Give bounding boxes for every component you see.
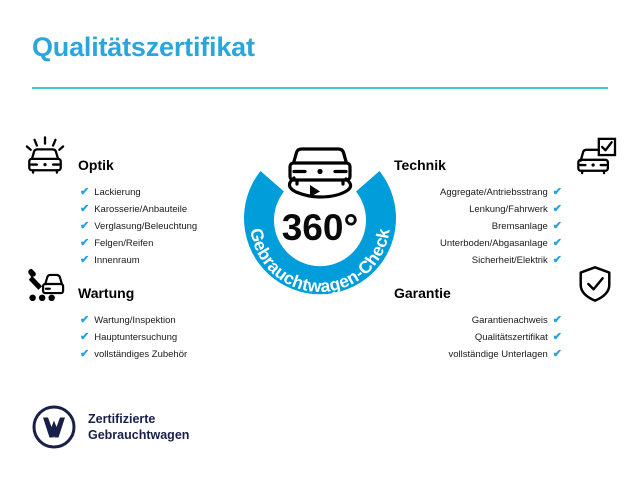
list-item-label: Unterboden/Abgasanlage [440,235,548,252]
section-garantie-title-wrap: Garantie [394,285,562,304]
check-icon: ✔ [80,238,89,249]
shield-check-icon [572,264,618,304]
check-icon: ✔ [80,332,89,343]
list-item: ✔ Lackierung [22,184,246,201]
car-shine-icon [22,136,68,176]
check-icon: ✔ [553,315,562,326]
section-wartung-title-wrap: Wartung [78,285,246,304]
list-item-label: Lackierung [94,184,140,201]
badge-center-label: 360° [282,207,359,248]
check-icon: ✔ [553,221,562,232]
section-wartung: Wartung ✔ Wartung/Inspektion ✔ Hauptunte… [22,258,246,363]
list-item: ✔ Bremsanlage [394,218,562,235]
list-item: ✔ Wartung/Inspektion [22,312,246,329]
section-technik-list: ✔ Aggregate/Antriebsstrang ✔ Lenkung/Fah… [394,184,618,269]
list-item-label: Hauptuntersuchung [94,329,177,346]
list-item: ✔ Lenkung/Fahrwerk [394,201,562,218]
section-wartung-list: ✔ Wartung/Inspektion ✔ Hauptuntersuchung… [22,312,246,363]
list-item-label: Bremsanlage [492,218,548,235]
title-divider [32,87,608,89]
section-optik-title-wrap: Optik [78,157,246,176]
check-icon: ✔ [553,349,562,360]
check-icon: ✔ [80,187,89,198]
list-item: ✔ Unterboden/Abgasanlage [394,235,562,252]
list-item: ✔ Qualitätszertifikat [394,329,562,346]
page-title: Qualitätszertifikat [32,32,255,63]
list-item-label: Verglasung/Beleuchtung [94,218,197,235]
list-item: ✔ Verglasung/Beleuchtung [22,218,246,235]
360-check-badge: Gebrauchtwagen-Check 360° [226,128,414,316]
list-item-label: Wartung/Inspektion [94,312,176,329]
vw-logo [32,405,76,449]
check-icon: ✔ [80,221,89,232]
list-item-label: Aggregate/Antriebsstrang [440,184,548,201]
car-checkbox-icon [572,136,618,176]
list-item: ✔ Garantienachweis [394,312,562,329]
quality-certificate-page: Qualitätszertifikat [0,0,640,480]
check-icon: ✔ [553,332,562,343]
list-item-label: Garantienachweis [472,312,548,329]
list-item-label: Lenkung/Fahrwerk [469,201,548,218]
footer-brand: ZertifizierteGebrauchtwagen [32,405,189,449]
check-icon: ✔ [553,187,562,198]
footer-line1: Zertifizierte [88,412,155,426]
section-technik-title-wrap: Technik [394,157,562,176]
list-item-label: Felgen/Reifen [94,235,153,252]
check-icon: ✔ [553,238,562,249]
list-item: ✔ vollständige Unterlagen [394,346,562,363]
section-technik-header: Technik [394,130,618,176]
car-rotate-icon [289,149,350,197]
section-garantie-header: Garantie [394,258,618,304]
list-item: ✔ vollständiges Zubehör [22,346,246,363]
section-technik: Technik ✔ Aggregate/Antriebsstrang ✔ Len… [394,130,618,269]
check-icon: ✔ [553,204,562,215]
list-item-label: vollständige Unterlagen [448,346,547,363]
section-optik-title: Optik [78,157,114,173]
footer-line2: Gebrauchtwagen [88,428,189,442]
section-garantie-list: ✔ Garantienachweis ✔ Qualitätszertifikat… [394,312,618,363]
list-item: ✔ Aggregate/Antriebsstrang [394,184,562,201]
check-icon: ✔ [80,204,89,215]
section-optik-list: ✔ Lackierung ✔ Karosserie/Anbauteile ✔ V… [22,184,246,269]
section-wartung-header: Wartung [22,258,246,304]
list-item: ✔ Hauptuntersuchung [22,329,246,346]
list-item: ✔ Karosserie/Anbauteile [22,201,246,218]
car-service-wrench-icon [22,264,68,304]
section-garantie: Garantie ✔ Garantienachweis ✔ Qualitätsz… [394,258,618,363]
list-item-label: vollständiges Zubehör [94,346,187,363]
section-optik-header: Optik [22,130,246,176]
check-icon: ✔ [80,315,89,326]
section-wartung-title: Wartung [78,285,134,301]
list-item-label: Qualitätszertifikat [475,329,548,346]
list-item: ✔ Felgen/Reifen [22,235,246,252]
list-item-label: Karosserie/Anbauteile [94,201,187,218]
footer-label: ZertifizierteGebrauchtwagen [88,411,189,443]
check-icon: ✔ [80,349,89,360]
section-optik: Optik ✔ Lackierung ✔ Karosserie/Anbautei… [22,130,246,269]
